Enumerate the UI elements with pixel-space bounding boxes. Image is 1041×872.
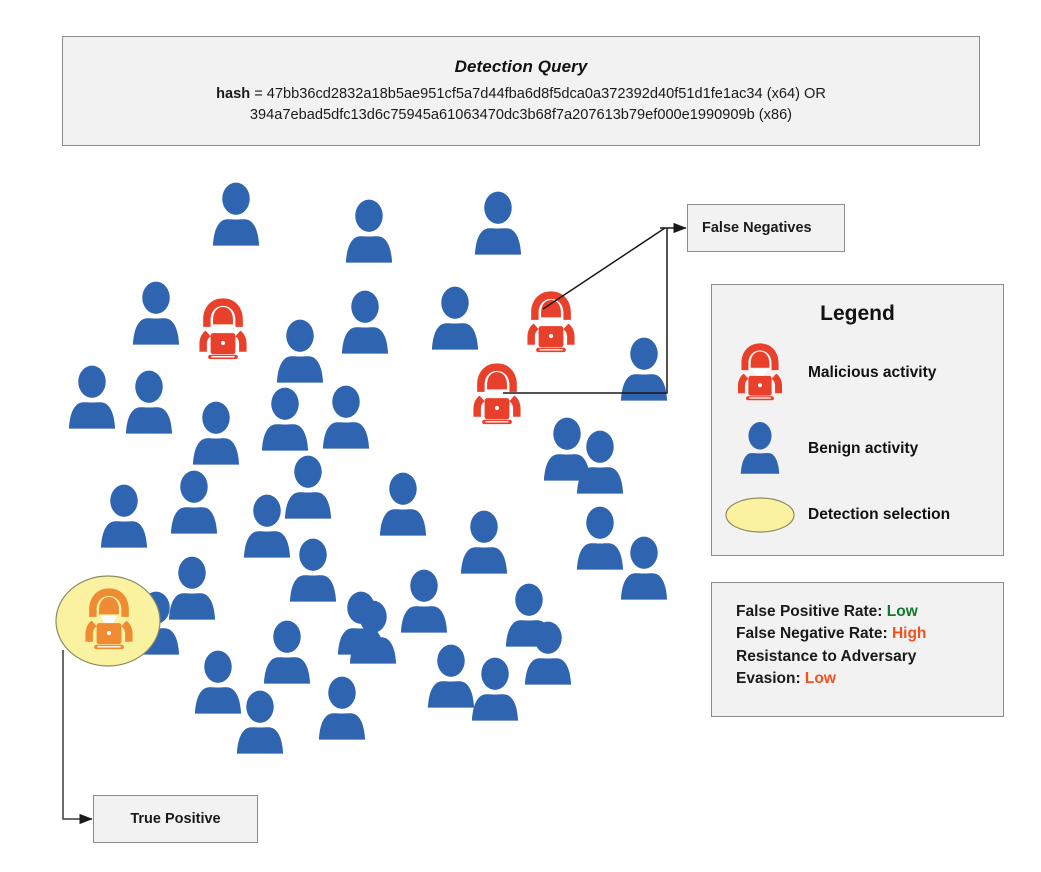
metric-false-positive-rate: False Positive Rate: Low — [736, 601, 1003, 623]
metric-label-resistance: Resistance to Adversary — [736, 648, 916, 665]
query-field: hash — [216, 86, 250, 102]
true-positive-detection[interactable] — [49, 569, 167, 673]
legend-item-malicious: Malicious activity — [712, 337, 1003, 409]
query-join-operator: OR — [804, 86, 826, 102]
legend-label-benign: Benign activity — [808, 440, 918, 458]
metric-label-fpr: False Positive Rate: — [736, 603, 882, 620]
ellipse-highlight-icon — [712, 494, 808, 536]
benign-activity-figure[interactable] — [423, 286, 487, 353]
false-negatives-callout[interactable]: False Negatives — [687, 204, 845, 252]
benign-activity-figure[interactable] — [60, 365, 124, 432]
benign-activity-figure[interactable] — [314, 385, 378, 452]
legend-label-malicious: Malicious activity — [808, 364, 936, 382]
metric-value-fpr: Low — [887, 603, 918, 620]
benign-activity-figure[interactable] — [124, 281, 188, 348]
benign-activity-figure[interactable] — [268, 319, 332, 386]
benign-activity-figure[interactable] — [253, 387, 317, 454]
diagram-canvas: Detection Query hash = 47bb36cd2832a18b5… — [0, 0, 1041, 872]
benign-activity-figure[interactable] — [184, 401, 248, 468]
benign-activity-figure[interactable] — [568, 430, 632, 497]
query-hash-x64: 47bb36cd2832a18b5ae951cf5a7d44fba6d8f5dc… — [267, 86, 763, 102]
connector-tp — [63, 650, 92, 819]
benign-activity-figure[interactable] — [276, 455, 340, 522]
query-operator: = — [254, 86, 263, 102]
detection-query-panel: Detection Query hash = 47bb36cd2832a18b5… — [62, 36, 980, 146]
detection-query-text: hash = 47bb36cd2832a18b5ae951cf5a7d44fba… — [216, 84, 826, 125]
benign-activity-figure[interactable] — [162, 470, 226, 537]
true-positive-callout[interactable]: True Positive — [93, 795, 258, 843]
metrics-panel: False Positive Rate: Low False Negative … — [711, 582, 1004, 717]
true-positive-label: True Positive — [130, 811, 220, 827]
query-arch-x64: (x64) — [767, 86, 800, 102]
benign-activity-figure[interactable] — [255, 620, 319, 687]
benign-activity-figure[interactable] — [466, 191, 530, 258]
metric-resistance-line1: Resistance to Adversary — [736, 646, 1003, 668]
benign-activity-figure[interactable] — [228, 690, 292, 757]
metric-label-fnr: False Negative Rate: — [736, 625, 888, 642]
legend-label-selection: Detection selection — [808, 506, 950, 524]
malicious-activity-figure[interactable] — [192, 297, 254, 363]
benign-activity-figure[interactable] — [204, 182, 268, 249]
legend-item-selection: Detection selection — [712, 487, 1003, 543]
person-icon-svg — [738, 421, 782, 477]
metric-value-evasion: Low — [805, 670, 836, 687]
legend-panel: Legend Malicious — [711, 284, 1004, 556]
benign-activity-figure[interactable] — [612, 337, 676, 404]
hacker-icon-svg — [731, 342, 789, 404]
metric-resistance-line2: Evasion: Low — [736, 668, 1003, 690]
legend-item-benign: Benign activity — [712, 415, 1003, 483]
benign-activity-figure[interactable] — [310, 676, 374, 743]
benign-activity-figure[interactable] — [333, 290, 397, 357]
false-negatives-label: False Negatives — [702, 220, 812, 236]
benign-activity-figure[interactable] — [337, 199, 401, 266]
metric-value-fnr: High — [892, 625, 926, 642]
query-hash-x86: 394a7ebad5dfc13d6c75945a61063470dc3b68f7… — [250, 107, 755, 123]
hacker-icon — [712, 342, 808, 404]
benign-activity-figure[interactable] — [516, 621, 580, 688]
benign-activity-figure[interactable] — [117, 370, 181, 437]
benign-activity-figure[interactable] — [452, 510, 516, 577]
true-positive-figure[interactable] — [78, 587, 140, 653]
malicious-activity-figure[interactable] — [520, 290, 582, 356]
ellipse-highlight-icon-svg — [723, 494, 797, 536]
benign-activity-figure[interactable] — [92, 484, 156, 551]
query-arch-x86: (x86) — [759, 107, 792, 123]
benign-activity-figure[interactable] — [612, 536, 676, 603]
metric-false-negative-rate: False Negative Rate: High — [736, 623, 1003, 645]
malicious-activity-figure[interactable] — [466, 362, 528, 428]
metric-label-evasion: Evasion: — [736, 670, 801, 687]
legend-title: Legend — [712, 302, 1003, 326]
benign-activity-figure[interactable] — [341, 600, 405, 667]
benign-activity-figure[interactable] — [371, 472, 435, 539]
person-icon — [712, 421, 808, 477]
detection-query-title: Detection Query — [455, 57, 588, 77]
